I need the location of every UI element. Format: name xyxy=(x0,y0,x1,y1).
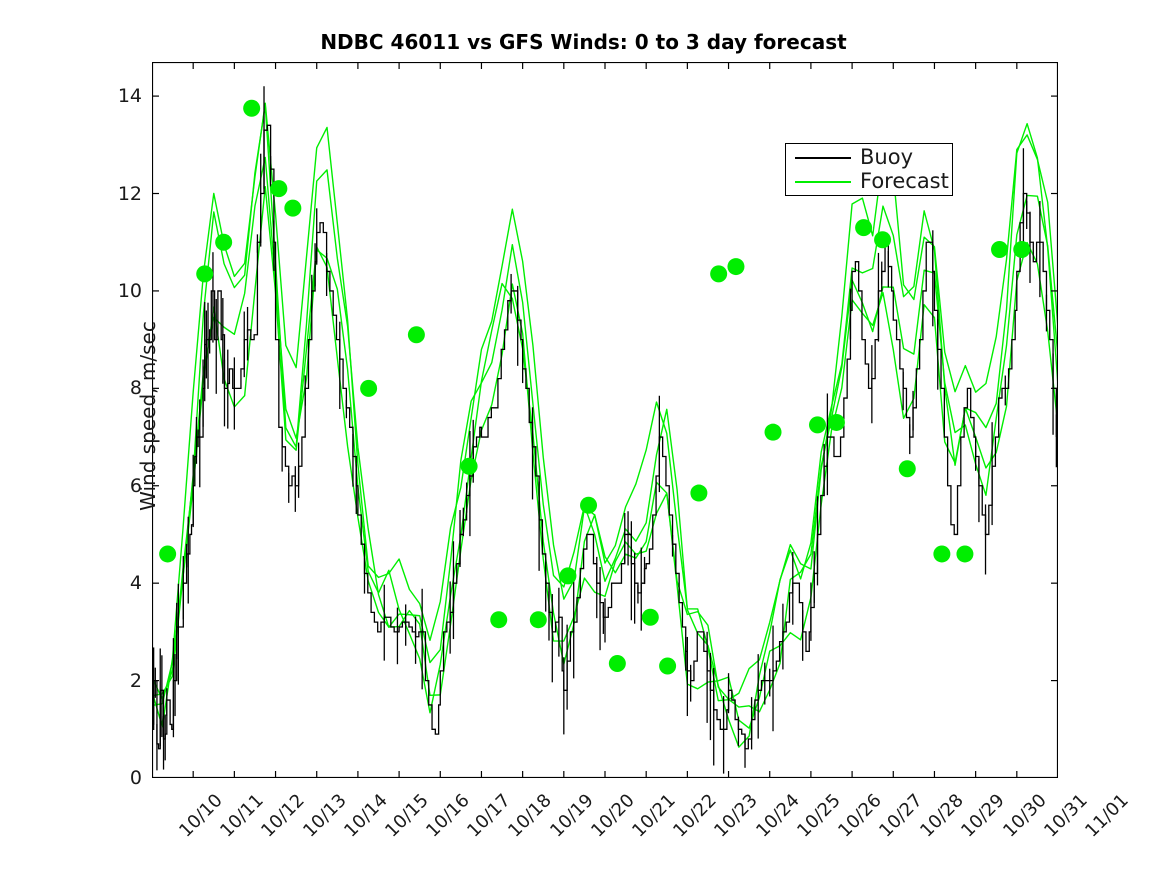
x-tick-label: 10/27 xyxy=(875,790,927,842)
x-tick-label: 10/11 xyxy=(216,790,268,842)
x-tick-label: 10/28 xyxy=(916,790,968,842)
y-tick-label: 6 xyxy=(98,475,142,497)
forecast-marker xyxy=(559,567,576,584)
x-tick-label: 10/20 xyxy=(587,790,639,842)
forecast-marker xyxy=(727,258,744,275)
x-tick-label: 10/13 xyxy=(299,790,351,842)
x-tick-label: 10/29 xyxy=(958,790,1010,842)
forecast-marker xyxy=(933,545,950,562)
forecast-marker xyxy=(215,234,232,251)
forecast-marker xyxy=(809,416,826,433)
x-tick-label: 10/25 xyxy=(793,790,845,842)
x-tick-label: 10/23 xyxy=(711,790,763,842)
legend-label-buoy: Buoy xyxy=(860,147,913,168)
y-tick-label: 2 xyxy=(98,670,142,692)
forecast-marker xyxy=(855,219,872,236)
x-tick-label: 10/12 xyxy=(258,790,310,842)
forecast-marker xyxy=(360,380,377,397)
x-tick-label: 10/21 xyxy=(628,790,680,842)
x-tick-label: 10/18 xyxy=(505,790,557,842)
y-tick-label: 8 xyxy=(98,377,142,399)
legend-swatch-buoy xyxy=(795,157,851,159)
forecast-marker xyxy=(580,497,597,514)
x-tick-label: 10/24 xyxy=(752,790,804,842)
x-tick-label: 10/19 xyxy=(546,790,598,842)
forecast-marker xyxy=(609,655,626,672)
forecast-marker xyxy=(991,241,1008,258)
x-tick-label: 10/16 xyxy=(422,790,474,842)
legend-entry-forecast: Forecast xyxy=(786,170,952,194)
page-title: NDBC 46011 vs GFS Winds: 0 to 3 day fore… xyxy=(0,30,1167,54)
forecast-marker xyxy=(530,611,547,628)
forecast-marker xyxy=(461,458,478,475)
y-axis-label: Wind speed, m/sec xyxy=(136,58,160,774)
forecast-marker xyxy=(243,100,260,117)
y-tick-label: 10 xyxy=(98,280,142,302)
chart-legend: Buoy Forecast xyxy=(785,143,953,196)
forecast-marker xyxy=(899,460,916,477)
x-tick-label: 10/10 xyxy=(175,790,227,842)
forecast-marker xyxy=(659,657,676,674)
x-tick-label: 10/14 xyxy=(340,790,392,842)
x-tick-label: 10/15 xyxy=(381,790,433,842)
forecast-marker xyxy=(408,326,425,343)
plot-area: Wind speed, m/sec 02468101214 10/1010/11… xyxy=(152,62,1058,778)
series-forecast-lines xyxy=(152,103,1058,747)
forecast-marker xyxy=(765,424,782,441)
forecast-marker xyxy=(490,611,507,628)
x-tick-label: 10/17 xyxy=(463,790,515,842)
legend-label-forecast: Forecast xyxy=(860,171,949,192)
legend-entry-buoy: Buoy xyxy=(786,146,952,170)
forecast-marker xyxy=(284,200,301,217)
y-tick-label: 0 xyxy=(98,767,142,789)
x-tick-label: 10/22 xyxy=(669,790,721,842)
legend-swatch-forecast xyxy=(795,181,851,183)
forecast-marker xyxy=(642,609,659,626)
x-tick-label: 10/26 xyxy=(834,790,886,842)
forecast-marker xyxy=(270,180,287,197)
forecast-marker xyxy=(196,265,213,282)
forecast-marker xyxy=(690,485,707,502)
x-tick-label: 11/01 xyxy=(1081,790,1133,842)
x-tick-label: 10/31 xyxy=(1040,790,1092,842)
forecast-marker xyxy=(828,414,845,431)
forecast-marker xyxy=(874,231,891,248)
forecast-marker xyxy=(1013,241,1030,258)
y-tick-label: 12 xyxy=(98,183,142,205)
y-tick-label: 14 xyxy=(98,85,142,107)
forecast-marker xyxy=(159,545,176,562)
x-tick-label: 10/30 xyxy=(999,790,1051,842)
chart-figure: NDBC 46011 vs GFS Winds: 0 to 3 day fore… xyxy=(0,0,1167,875)
y-tick-label: 4 xyxy=(98,572,142,594)
forecast-marker xyxy=(710,265,727,282)
forecast-marker xyxy=(956,545,973,562)
